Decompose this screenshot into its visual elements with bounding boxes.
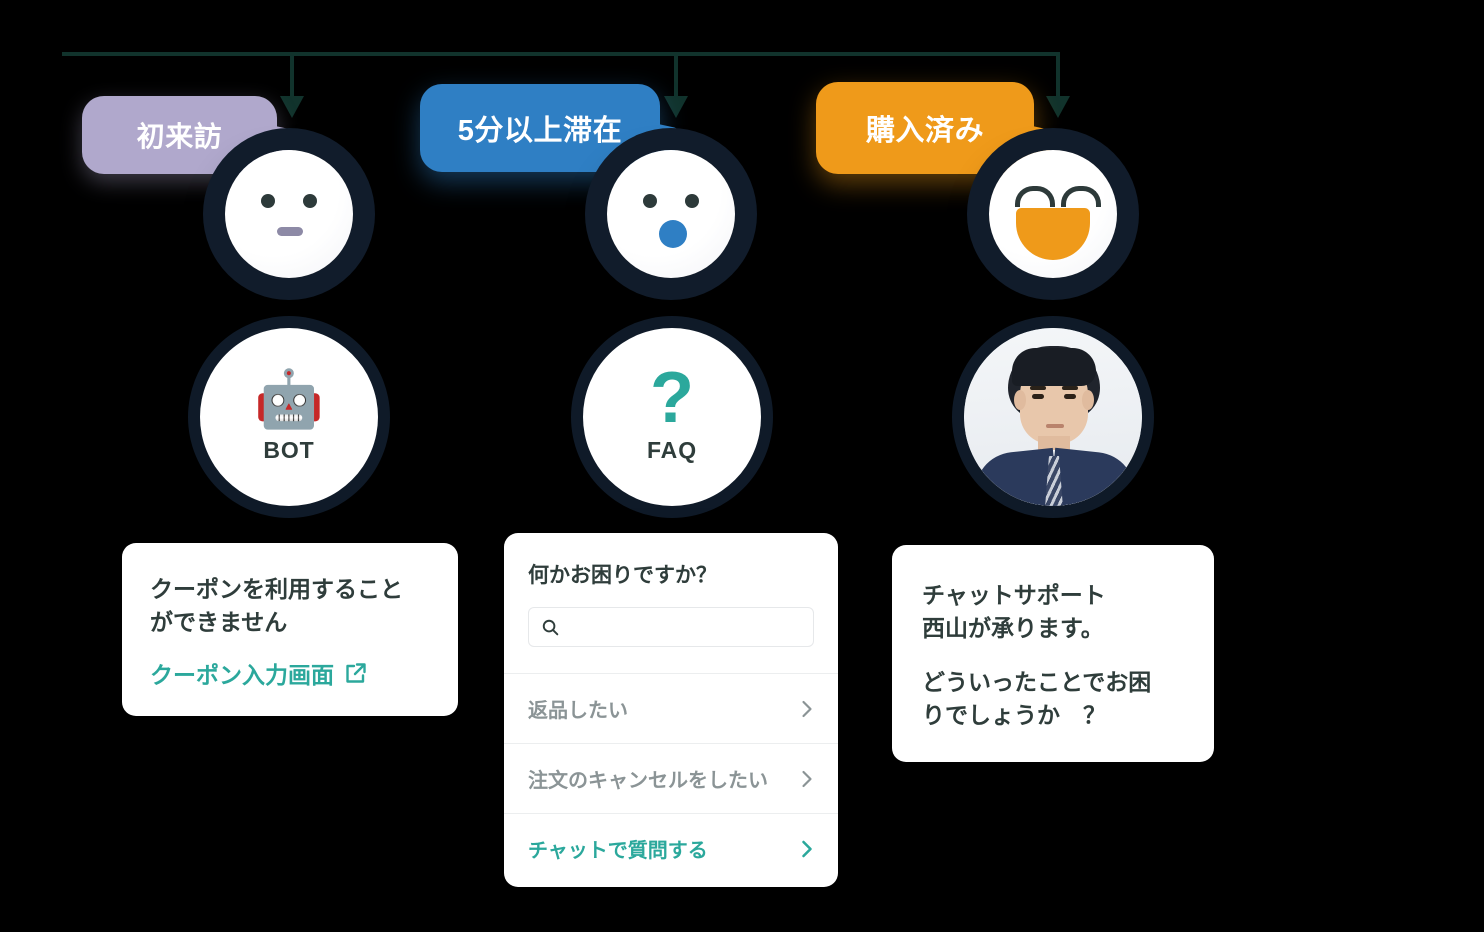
chevron-right-icon (801, 839, 814, 859)
badge-purchased[interactable]: 購入済み (816, 82, 1034, 174)
eye-closed-right (1061, 186, 1101, 207)
faq-item-ask-in-chat[interactable]: チャットで質問する (504, 813, 838, 887)
neutral-face-avatar (225, 150, 353, 278)
faq-item-return[interactable]: 返品したい (504, 673, 838, 743)
faq-item-cancel-order[interactable]: 注文のキャンセルをしたい (504, 743, 838, 813)
external-link-icon (344, 661, 368, 685)
channel-bot[interactable]: 🤖 BOT (200, 328, 378, 506)
agent-intro-text: チャットサポート 西山が承ります。 (922, 579, 1184, 646)
badge-first-visit-label: 初来訪 (137, 115, 223, 155)
agent-question-line-1: どういったことでお困 (922, 669, 1151, 695)
mouth-smile (1016, 208, 1090, 260)
arrow-head-1 (280, 96, 304, 118)
coupon-message-line-1: クーポンを利用すること (150, 576, 403, 602)
eye-left (643, 194, 657, 208)
channel-faq[interactable]: ? FAQ (583, 328, 761, 506)
agent-intro-line-2: 西山が承ります。 (922, 615, 1104, 641)
mouth-surprised (659, 220, 687, 248)
chevron-right-icon (801, 769, 814, 789)
coupon-message-line-2: ができません (150, 609, 287, 635)
coupon-message-text: クーポンを利用すること ができません (150, 573, 430, 640)
question-mark-icon: ? (650, 370, 694, 428)
eye-left (1032, 394, 1044, 399)
hair-front (1012, 348, 1096, 386)
faq-search-input[interactable] (568, 617, 801, 637)
eye-left (261, 194, 275, 208)
agent-photo (964, 328, 1142, 506)
agent-intro-line-1: チャットサポート (922, 582, 1106, 608)
channel-bot-label: BOT (263, 437, 314, 464)
eye-right (1064, 394, 1076, 399)
brow-right (1062, 386, 1078, 390)
eye-right (685, 194, 699, 208)
faq-item-cancel-order-label: 注文のキャンセルをしたい (528, 764, 768, 793)
faq-search-box[interactable] (528, 607, 814, 647)
mouth-neutral (277, 227, 303, 236)
badge-stay-5min-label: 5分以上滞在 (458, 107, 623, 149)
coupon-input-link-label: クーポン入力画面 (150, 656, 334, 690)
eye-closed-left (1015, 186, 1055, 207)
smiling-face-avatar (989, 150, 1117, 278)
card-agent-message: チャットサポート 西山が承ります。 どういったことでお困 りでしょうか ？ (892, 545, 1214, 762)
ear-left (1014, 390, 1026, 410)
chevron-right-icon (801, 699, 814, 719)
coupon-input-link[interactable]: クーポン入力画面 (150, 656, 430, 690)
ear-right (1082, 390, 1094, 410)
badge-purchased-label: 購入済み (866, 107, 984, 149)
robot-icon: 🤖 (254, 371, 324, 427)
agent-question-line-2: りでしょうか ？ (922, 702, 1106, 728)
card-coupon-message: クーポンを利用すること ができません クーポン入力画面 (122, 543, 458, 716)
brow-left (1030, 386, 1046, 390)
jacket-right (1049, 448, 1139, 506)
channel-agent[interactable] (964, 328, 1142, 506)
faq-item-ask-in-chat-label: チャットで質問する (528, 834, 708, 863)
arrow-head-2 (664, 96, 688, 118)
badge-stay-5min[interactable]: 5分以上滞在 (420, 84, 660, 172)
card-faq-widget: 何かお困りですか？ 返品したい 注文のキャンセルをしたい チャットで質問する (504, 533, 838, 887)
agent-question-text: どういったことでお困 りでしょうか ？ (922, 666, 1184, 733)
jacket-left (971, 448, 1059, 506)
arrow-head-3 (1046, 96, 1070, 118)
diagram-canvas: 初来訪 5分以上滞在 購入済み 🤖 BOT ? FAQ (0, 0, 1484, 932)
search-icon (541, 618, 560, 637)
channel-faq-label: FAQ (647, 437, 697, 464)
surprised-face-avatar (607, 150, 735, 278)
eye-right (303, 194, 317, 208)
faq-item-return-label: 返品したい (528, 694, 628, 723)
badge-first-visit[interactable]: 初来訪 (82, 96, 277, 174)
faq-title: 何かお困りですか？ (504, 559, 838, 589)
mouth (1046, 424, 1064, 428)
